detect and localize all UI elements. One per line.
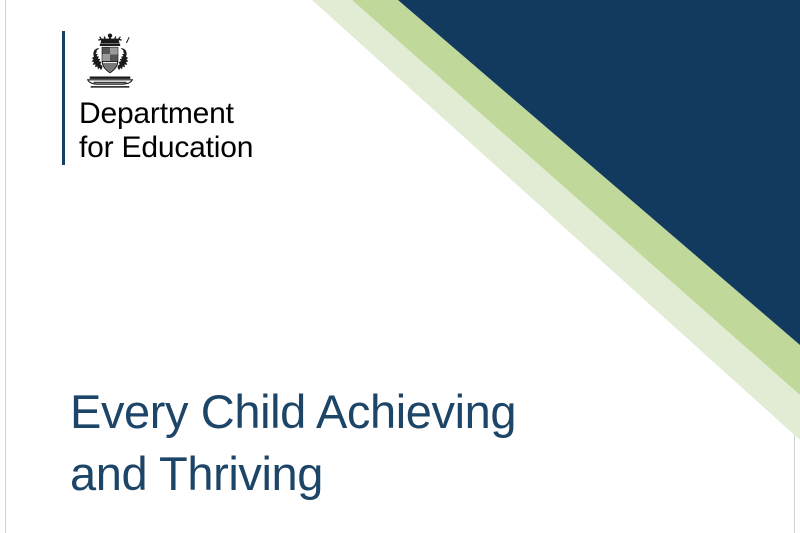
department-name: Department for Education [79, 97, 253, 165]
cover-page: Department for Education Every Child Ach… [0, 0, 800, 533]
page-title: Every Child Achieving and Thriving [70, 381, 516, 503]
band-green-mid-shape [352, 0, 800, 395]
page-title-line-2: and Thriving [70, 443, 516, 504]
band-green-pale-shape [312, 0, 800, 440]
dfe-logo: Department for Education [62, 31, 253, 165]
band-navy-shape [398, 0, 800, 345]
logo-body: Department for Education [65, 31, 253, 165]
department-name-line-2: for Education [79, 131, 253, 165]
page-edge-right [794, 0, 795, 533]
page-title-line-1: Every Child Achieving [70, 381, 516, 442]
department-name-line-1: Department [79, 97, 253, 131]
royal-coat-of-arms-icon [81, 31, 139, 91]
page-edge-left [5, 0, 6, 533]
